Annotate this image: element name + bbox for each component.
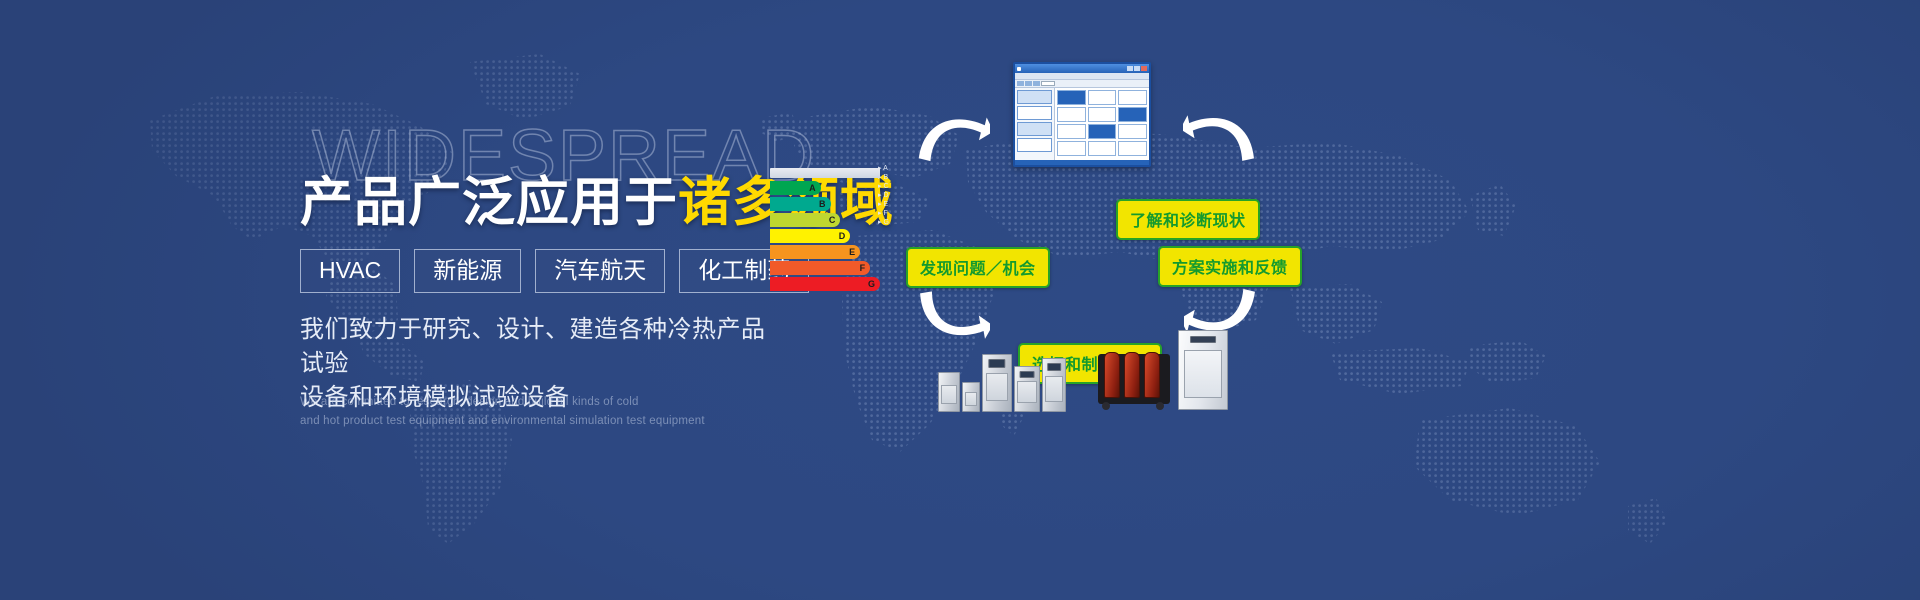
scale-row: ▸ E bbox=[878, 200, 928, 209]
energy-bar-b: B bbox=[770, 197, 831, 211]
callout-discover[interactable]: 发现问题／机会 bbox=[906, 247, 1050, 288]
energy-bar-e: E bbox=[770, 245, 860, 259]
arrow-top-right-icon bbox=[1183, 103, 1257, 173]
process-cycle-diagram: ▸ A ▸ B ▸ C ▸ D ▸ E ▸ F ▸ G ABCDEFG bbox=[900, 0, 1920, 600]
window-menubar bbox=[1015, 73, 1149, 80]
sidebar-card bbox=[1017, 122, 1052, 136]
tag-hvac[interactable]: HVAC bbox=[300, 249, 400, 293]
energy-bar-g: G bbox=[770, 277, 880, 291]
english-line-2: and hot product test equipment and envir… bbox=[300, 412, 720, 431]
callout-implement[interactable]: 方案实施和反馈 bbox=[1158, 246, 1302, 287]
scale-row: ▸ B bbox=[878, 173, 928, 182]
sidebar-card bbox=[1017, 106, 1052, 120]
english-line-1: We are committed to research, design and… bbox=[300, 393, 720, 412]
sidebar-card bbox=[1017, 90, 1052, 104]
window-titlebar bbox=[1015, 64, 1149, 73]
description-line-1: 我们致力于研究、设计、建造各种冷热产品试验 bbox=[300, 313, 770, 381]
window-body bbox=[1015, 88, 1149, 160]
energy-bar-c: C bbox=[770, 213, 840, 227]
scale-row: ▸ G bbox=[878, 218, 928, 227]
hero-banner: WIDESPREAD 产品广泛应用于诸多领域 HVAC 新能源 汽车航天 化工制… bbox=[0, 0, 1920, 600]
window-content bbox=[1055, 88, 1149, 160]
scale-row: ▸ F bbox=[878, 209, 928, 218]
scale-row: ▸ C bbox=[878, 182, 928, 191]
product-photo-white-cabinet bbox=[1178, 330, 1228, 410]
energy-bar-d: D bbox=[770, 229, 850, 243]
product-photo-chambers bbox=[938, 344, 1068, 412]
energy-grade-bars: ABCDEFG bbox=[770, 181, 880, 291]
callout-diagnose[interactable]: 了解和诊断现状 bbox=[1116, 199, 1260, 240]
window-sidebar bbox=[1015, 88, 1055, 160]
tag-automotive-aerospace[interactable]: 汽车航天 bbox=[535, 249, 665, 293]
sidebar-card bbox=[1017, 138, 1052, 152]
description-english: We are committed to research, design and… bbox=[300, 393, 720, 430]
scale-row: ▸ D bbox=[878, 191, 928, 200]
energy-label-header bbox=[770, 168, 880, 178]
window-statusbar bbox=[1015, 160, 1149, 167]
arrow-top-left-icon bbox=[916, 108, 990, 174]
energy-bar-a: A bbox=[770, 181, 821, 195]
software-screenshot bbox=[1013, 62, 1151, 167]
arrow-bottom-left-icon bbox=[916, 278, 990, 348]
headline-white-part: 产品广泛应用于 bbox=[300, 173, 678, 232]
window-toolbar bbox=[1015, 80, 1149, 88]
energy-bar-f: F bbox=[770, 261, 870, 275]
energy-efficiency-label: ABCDEFG bbox=[770, 168, 880, 293]
category-tag-list: HVAC 新能源 汽车航天 化工制药 bbox=[300, 249, 809, 293]
product-photo-red-unit bbox=[1098, 344, 1170, 410]
tag-new-energy[interactable]: 新能源 bbox=[414, 249, 521, 293]
